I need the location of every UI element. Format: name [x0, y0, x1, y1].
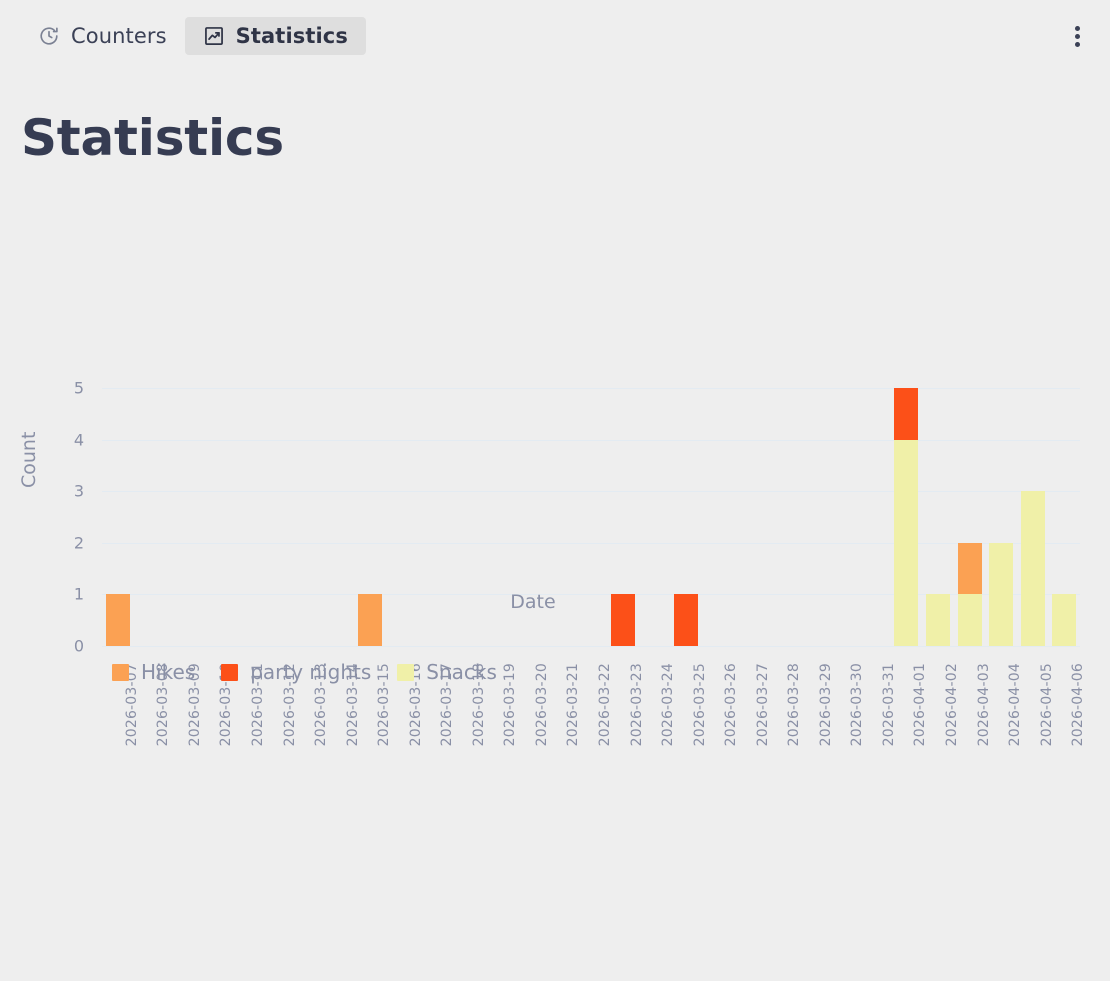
y-axis-tick-label: 0: [24, 637, 84, 656]
kebab-dot: [1075, 26, 1080, 31]
bar-segment[interactable]: [958, 543, 982, 595]
gridline: [102, 388, 1080, 389]
y-axis-tick-label: 5: [24, 379, 84, 398]
x-axis-tick-label: 2026-04-06: [1070, 663, 1086, 746]
x-axis-tick-label: 2026-04-05: [1039, 663, 1055, 746]
kebab-dot: [1075, 34, 1080, 39]
x-axis-label-text: Date: [510, 591, 555, 613]
x-axis-tick-label: 2026-03-23: [629, 663, 645, 746]
legend-swatch: [221, 664, 238, 681]
y-axis-tick-label: 2: [24, 533, 84, 552]
legend-label: Snacks: [426, 660, 497, 684]
kebab-dot: [1075, 42, 1080, 47]
x-axis-tick-label: 2026-03-30: [849, 663, 865, 746]
chart-legend: Hikesparty nightsSnacks: [112, 660, 497, 684]
bar-segment[interactable]: [894, 440, 918, 646]
x-axis-tick-label: 2026-04-03: [976, 663, 992, 746]
x-axis-tick-label: 2026-03-20: [534, 663, 550, 746]
tab-counters[interactable]: Counters: [20, 17, 185, 55]
x-axis-tick-label: 2026-04-02: [944, 663, 960, 746]
chart-image-icon: [203, 25, 225, 47]
x-axis-tick-label: 2026-03-22: [597, 663, 613, 746]
gridline: [102, 491, 1080, 492]
x-axis-tick-label: 2026-03-24: [660, 663, 676, 746]
x-axis-tick-label: 2026-03-21: [565, 663, 581, 746]
bar-segment[interactable]: [1021, 491, 1045, 646]
top-tab-bar: Counters Statistics: [0, 0, 1110, 72]
x-axis-tick-label: 2026-03-28: [786, 663, 802, 746]
x-axis-tick-label: 2026-03-19: [502, 663, 518, 746]
x-axis-tick-label: 2026-03-29: [818, 663, 834, 746]
gridline: [102, 440, 1080, 441]
gridline: [102, 646, 1080, 647]
statistics-bar-chart: Count 012345 2026-03-072026-03-082026-03…: [0, 185, 1110, 695]
legend-item-snacks[interactable]: Snacks: [397, 660, 497, 684]
bar-column[interactable]: [1021, 491, 1045, 646]
tab-statistics[interactable]: Statistics: [185, 17, 366, 55]
legend-item-party-nights[interactable]: party nights: [221, 660, 371, 684]
x-axis-label: Date: [0, 591, 1110, 613]
y-axis-tick-label: 4: [24, 430, 84, 449]
legend-item-hikes[interactable]: Hikes: [112, 660, 195, 684]
history-clock-icon: [38, 25, 60, 47]
page-title: Statistics: [21, 108, 284, 168]
x-axis-tick-label: 2026-03-26: [723, 663, 739, 746]
x-axis-tick-label: 2026-04-01: [912, 663, 928, 746]
legend-label: Hikes: [141, 660, 195, 684]
tab-counters-label: Counters: [71, 24, 167, 48]
y-axis-tick-label: 3: [24, 482, 84, 501]
tab-statistics-label: Statistics: [236, 24, 348, 48]
x-axis-tick-label: 2026-03-27: [755, 663, 771, 746]
x-axis-tick-label: 2026-04-04: [1007, 663, 1023, 746]
tab-list: Counters Statistics: [20, 17, 366, 55]
kebab-menu-icon[interactable]: [1060, 19, 1094, 53]
bar-segment[interactable]: [894, 388, 918, 440]
legend-swatch: [112, 664, 129, 681]
legend-label: party nights: [250, 660, 371, 684]
x-axis-tick-label: 2026-03-31: [881, 663, 897, 746]
gridline: [102, 543, 1080, 544]
x-axis-tick-label: 2026-03-25: [692, 663, 708, 746]
legend-swatch: [397, 664, 414, 681]
